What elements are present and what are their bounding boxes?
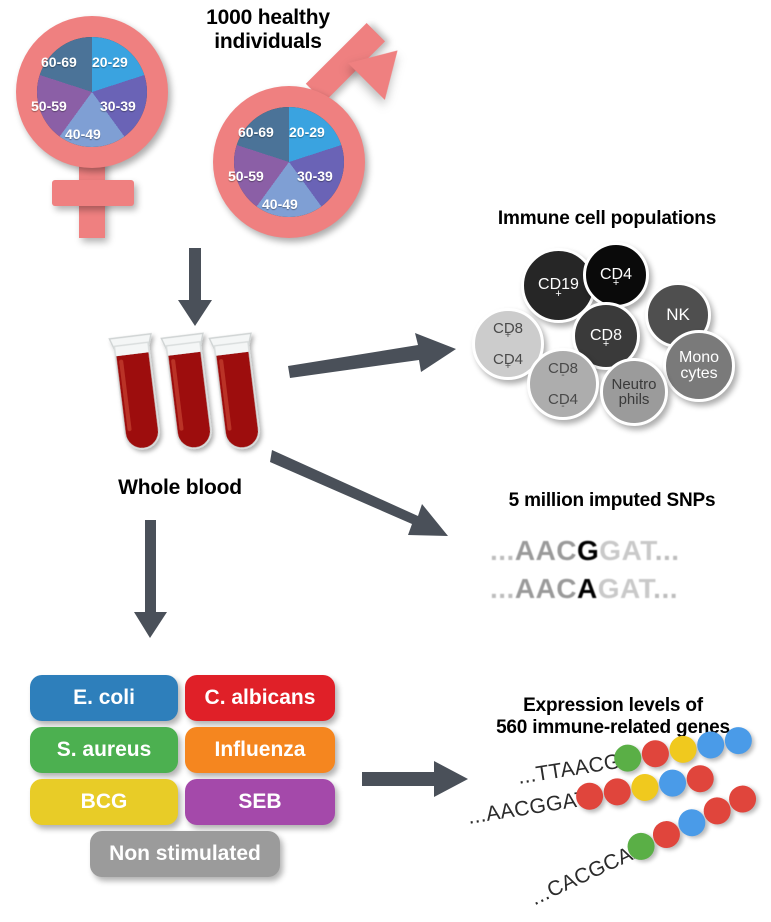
blood-tube-1 <box>109 334 164 451</box>
stimulation-label: SEB <box>238 790 281 814</box>
immune-cell-neutrophils: Neutrophils <box>600 358 668 426</box>
stimulation-seb[interactable]: SEB <box>185 779 335 825</box>
bead <box>685 763 716 794</box>
snp-trail-1: ... <box>655 535 680 566</box>
stimulation-e-coli[interactable]: E. coli <box>30 675 178 721</box>
male-label-40-49: 40-49 <box>262 196 298 212</box>
blood-tubes-icon <box>95 330 275 490</box>
snp-trail-2: ... <box>653 573 678 604</box>
blood-tube-2 <box>161 333 216 450</box>
cell-label-neutrophils: Neutrophils <box>611 377 656 408</box>
male-label-50-59: 50-59 <box>228 168 264 184</box>
immune-cell-cluster: CD19+ CD4+ NK CD8+CD4+ CD8+ Monocytes CD… <box>450 240 771 425</box>
immune-cell-monocytes: Monocytes <box>663 330 735 402</box>
stimulation-label: E. coli <box>73 686 135 710</box>
expression-title-line-1: Expression levels of <box>455 695 771 717</box>
stimulation-label: S. aureus <box>57 738 152 762</box>
female-label-50-59: 50-59 <box>31 98 67 114</box>
female-symbol: 20-29 30-39 40-49 50-59 60-69 <box>8 10 188 240</box>
bead <box>723 725 754 756</box>
immune-cell-cd8neg-cd4neg: CD8-CD4- <box>527 348 599 420</box>
expression-strands: ...TTAACGG ...AACGGAT ...CACGCAA <box>440 745 771 920</box>
female-label-40-49: 40-49 <box>65 126 101 142</box>
snp-pre-2: AAC <box>515 573 577 604</box>
cell-label-cd8: CD8+ <box>590 328 622 344</box>
cell-label-nk: NK <box>666 306 690 323</box>
snp-title: 5 million imputed SNPs <box>462 490 762 512</box>
male-symbol: 20-29 30-39 40-49 50-59 60-69 <box>207 52 422 252</box>
bead <box>629 772 660 803</box>
stimulation-panel: E. coli C. albicans S. aureus Influenza … <box>30 675 350 900</box>
cell-label-cd19: CD19+ <box>538 277 579 293</box>
female-label-30-39: 30-39 <box>100 98 136 114</box>
male-label-20-29: 20-29 <box>289 124 325 140</box>
cell-label-monocytes: Monocytes <box>679 350 719 383</box>
stimulation-s-aureus[interactable]: S. aureus <box>30 727 178 773</box>
male-label-30-39: 30-39 <box>297 168 333 184</box>
snp-post-2: GAT <box>598 573 653 604</box>
stimulation-non-stimulated[interactable]: Non stimulated <box>90 831 280 877</box>
stimulation-bcg[interactable]: BCG <box>30 779 178 825</box>
bead <box>602 776 633 807</box>
immune-cell-cd4: CD4+ <box>583 242 649 308</box>
bead <box>640 738 671 769</box>
male-label-60-69: 60-69 <box>238 124 274 140</box>
stimulation-label: Influenza <box>214 738 305 762</box>
strand-sequence-2: ...AACGGAT <box>466 787 590 830</box>
snp-variant-1: G <box>577 535 599 566</box>
cohort-title-line-1: 1000 healthy <box>168 6 368 30</box>
cell-label-cd4: CD4+ <box>600 267 632 283</box>
arrow-blood-to-snps <box>270 448 455 543</box>
bead <box>668 734 699 765</box>
arrow-blood-to-immune <box>288 322 463 382</box>
snp-row-2: ...AACAGAT... <box>490 573 678 605</box>
snp-post-1: GAT <box>599 535 654 566</box>
cell-label-cd8neg-cd4neg: CD8-CD4- <box>548 361 578 407</box>
stimulation-label: C. albicans <box>205 686 316 710</box>
snp-lead-1: ... <box>490 535 515 566</box>
page-title: 1000 healthy individuals <box>168 6 368 54</box>
cell-label-cd8pos-cd4pos: CD8+CD4+ <box>493 321 523 367</box>
bead <box>695 730 726 761</box>
whole-blood-label: Whole blood <box>80 476 280 500</box>
female-label-20-29: 20-29 <box>92 54 128 70</box>
snp-row-1: ...AACGGAT... <box>490 535 680 567</box>
female-stem-cross <box>52 180 134 206</box>
stimulation-c-albicans[interactable]: C. albicans <box>185 675 335 721</box>
snp-variant-2: A <box>577 573 598 604</box>
snp-pre-1: AAC <box>515 535 577 566</box>
arrow-blood-to-stimulation <box>128 520 176 640</box>
blood-tube-3 <box>209 333 264 450</box>
immune-title: Immune cell populations <box>452 208 762 230</box>
whole-blood-group <box>95 330 275 490</box>
female-label-60-69: 60-69 <box>41 54 77 70</box>
bead <box>657 768 688 799</box>
stimulation-label: BCG <box>81 790 128 814</box>
stimulation-label: Non stimulated <box>109 842 261 866</box>
arrow-cohort-to-blood <box>170 248 220 328</box>
snp-lead-2: ... <box>490 573 515 604</box>
snp-sequences: ...AACGGAT... ...AACAGAT... <box>490 525 750 615</box>
stimulation-influenza[interactable]: Influenza <box>185 727 335 773</box>
